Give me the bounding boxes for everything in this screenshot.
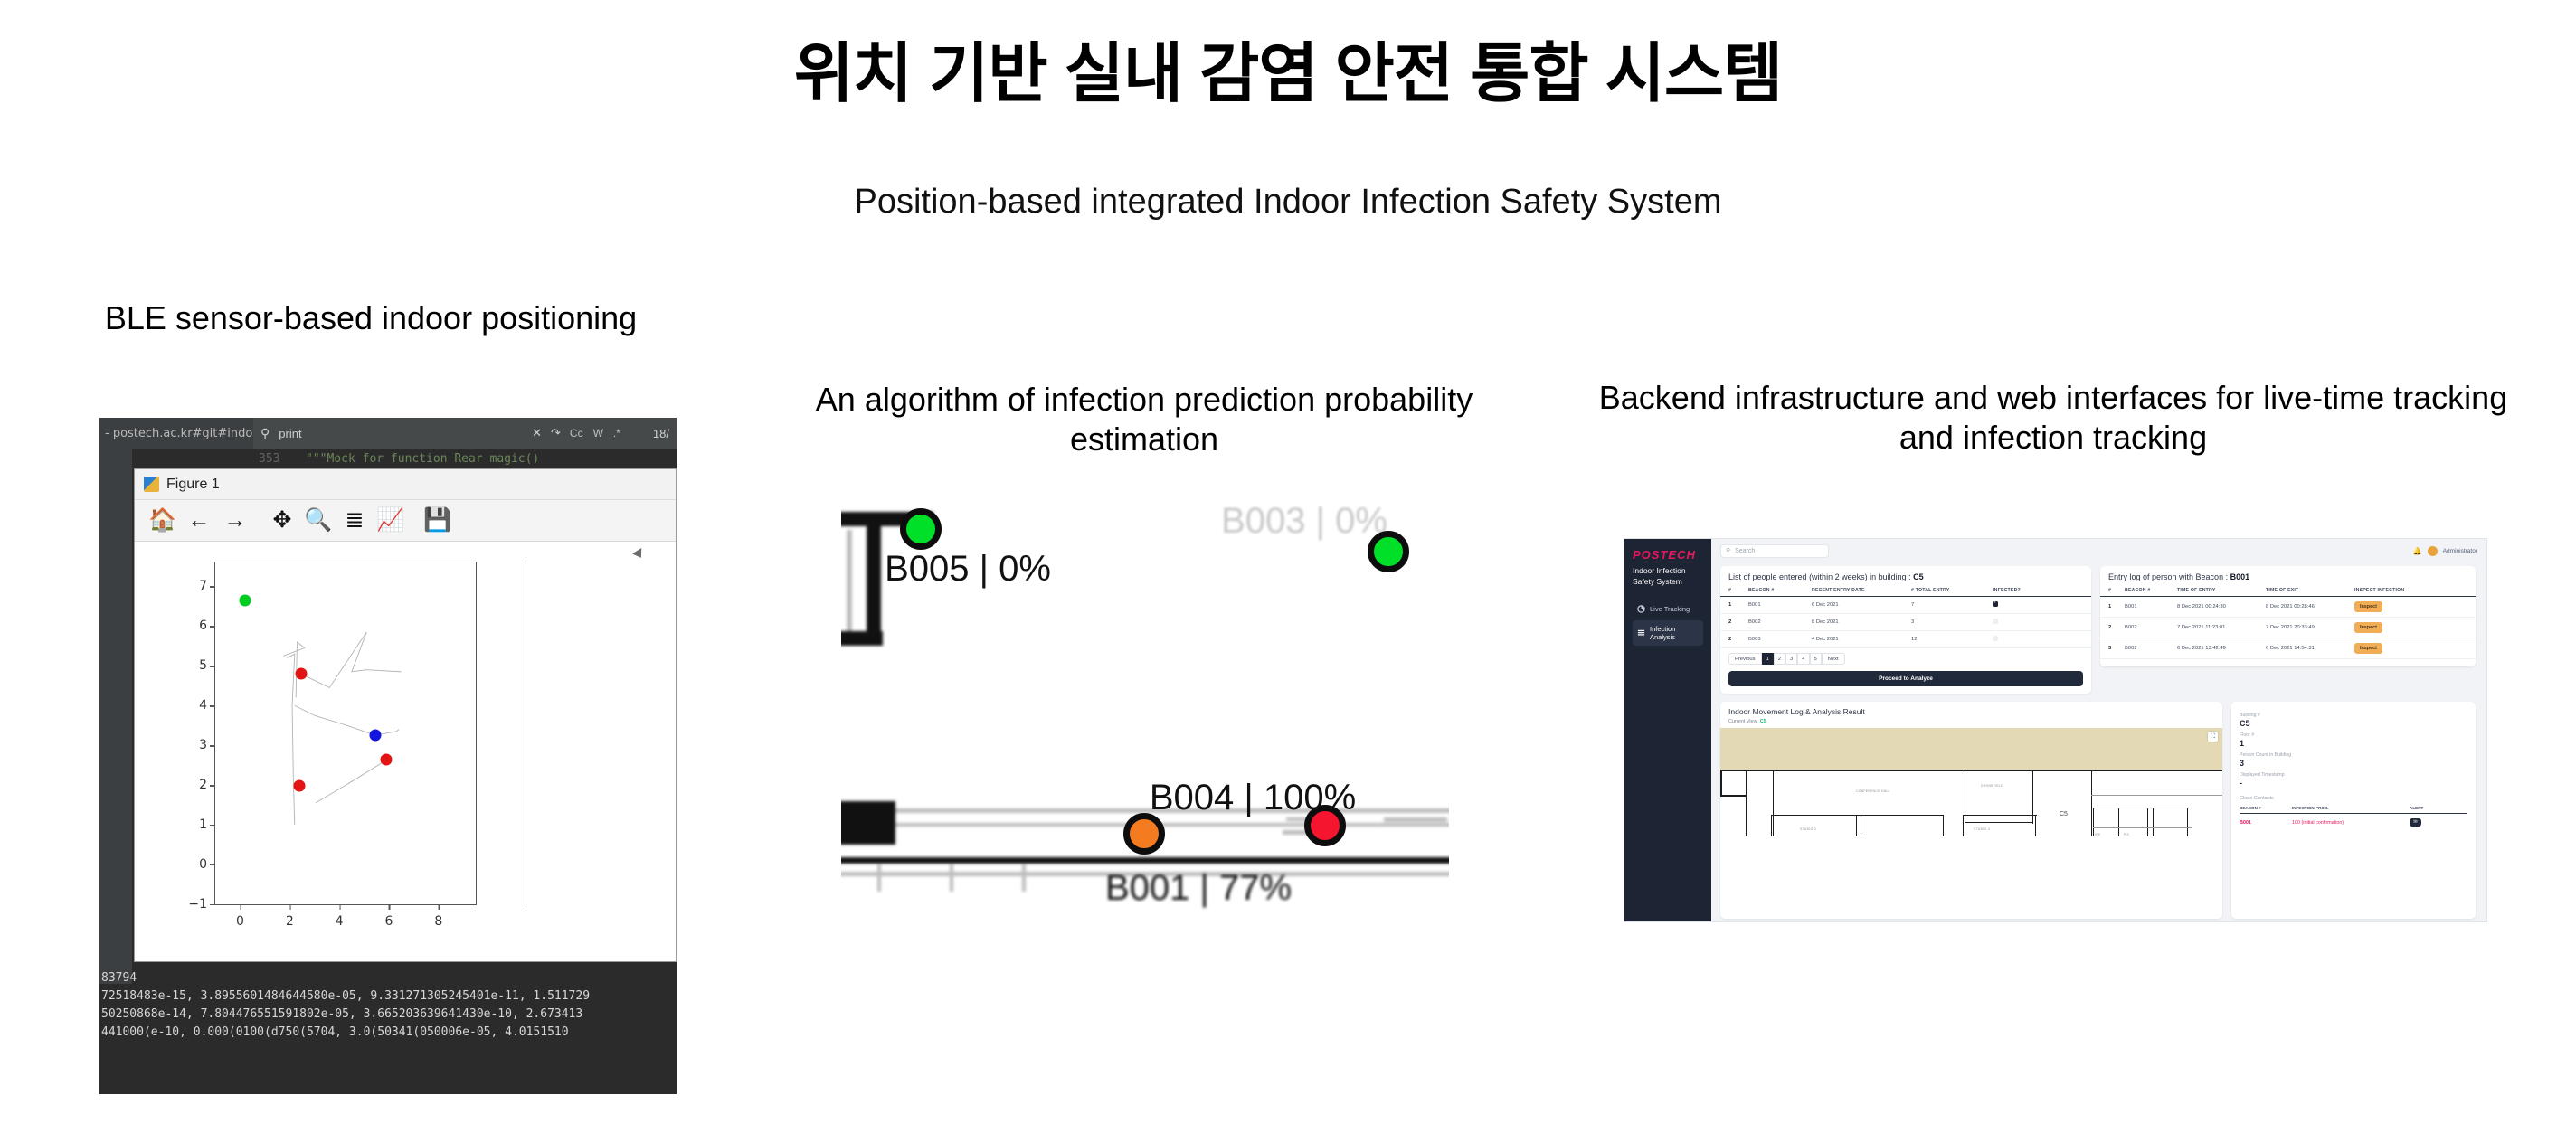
cell-action[interactable]: Inspect [2346, 618, 2476, 638]
pagination-previous[interactable]: Previous [1728, 653, 1762, 665]
wall-tick [1022, 864, 1026, 892]
search-icon: ⚲ [1726, 547, 1730, 554]
cell-date: 4 Dec 2021 [1804, 631, 1903, 648]
pagination-page-5[interactable]: 5 [1810, 653, 1822, 665]
edit-axis-icon[interactable]: 📈 [374, 504, 408, 538]
wall-segment-light [847, 530, 852, 640]
table-header-row: BEACON # INFECTION PROB. ALERT [2240, 804, 2467, 814]
app-name: Indoor Infection Safety System [1633, 565, 1703, 588]
x-axis-tick: 2 [286, 914, 294, 929]
x-axis-tick: 6 [385, 914, 393, 929]
cell-index: 1 [1720, 597, 1740, 614]
pagination[interactable]: Previous 1 2 3 4 5 Next [1720, 648, 2091, 671]
cell-entry-time: 6 Dec 2021 13:42:49 [2169, 638, 2258, 659]
floorplan-wall [1720, 770, 1722, 797]
current-view-label: Current View [1728, 719, 1757, 724]
beacon-label-partial: B003 | 0% [1221, 506, 1387, 542]
close-icon[interactable]: ✕ [532, 426, 542, 440]
cell-exit-time: 6 Dec 2021 14:54:31 [2258, 638, 2346, 659]
ide-match-count: 18/ [653, 427, 669, 440]
mouse-cursor-icon [632, 548, 646, 561]
ide-scrap-line: 83794 [101, 971, 156, 985]
table-row[interactable]: B001 100 (initial confirmation) ✉ [2240, 814, 2467, 831]
floorplan-room [1856, 815, 1857, 836]
pagination-next[interactable]: Next [1822, 653, 1845, 665]
col-infection-prob: INFECTION PROB. [2292, 804, 2410, 814]
entry-log-table: # BEACON # TIME OF ENTRY TIME OF EXIT IN… [2100, 586, 2476, 659]
caption-left-panel: BLE sensor-based indoor positioning [95, 298, 647, 338]
infected-checkbox-checked[interactable] [1993, 601, 1998, 607]
floorplan-core [2093, 827, 2192, 828]
caption-right-panel: Backend infrastructure and web interface… [1592, 378, 2514, 458]
scatter-point-anchor [294, 780, 306, 792]
alert-message-icon[interactable]: ✉ [2410, 818, 2421, 827]
entry-log-title-prefix: Entry log of person with Beacon : [2108, 572, 2230, 581]
floorplan-room [1943, 815, 1944, 836]
cell-entry-time: 8 Dec 2021 00:24:30 [2169, 597, 2258, 618]
movement-log-card: Indoor Movement Log & Analysis Result Cu… [1720, 702, 2222, 919]
current-view: Current View C5 [1728, 719, 2214, 724]
figure-canvas[interactable]: −10123456702468 [135, 542, 676, 961]
floorplan-label-dronefield: DRONEFIELD [1981, 784, 2003, 788]
cell-index: 2 [1720, 614, 1740, 631]
scatter-plot-axes: −10123456702468 [214, 562, 477, 905]
sidebar-item-label: Infection Analysis [1650, 625, 1699, 641]
x-axis-tick: 0 [236, 914, 244, 929]
page-title: 위치 기반 실내 감염 안전 통합 시스템 [0, 40, 2576, 110]
cell-date: 8 Dec 2021 [1804, 614, 1903, 631]
info-value-person-count: 3 [2240, 759, 2467, 768]
table-row[interactable]: 2 B003 4 Dec 2021 12 [1720, 631, 2091, 648]
current-view-value: C5 [1760, 719, 1766, 724]
live-tracking-icon [1637, 605, 1645, 613]
cell-infected[interactable] [1984, 597, 2091, 614]
sidebar-item-live-tracking[interactable]: Live Tracking [1633, 600, 1703, 618]
scatter-point-estimated-position [369, 730, 381, 742]
cell-exit-time: 7 Dec 2021 20:33:49 [2258, 618, 2346, 638]
figure-toolbar[interactable]: 🏠 ← → ✥ 🔍 ≣ 📈 💾 [135, 500, 676, 542]
matplotlib-logo-icon [144, 477, 159, 492]
building-info-card: Building # C5 Floor # 1 Person Count in … [2231, 702, 2476, 919]
wall-segment [841, 857, 1449, 864]
corridor-line [895, 823, 1449, 827]
regex-toggle-icon[interactable]: ↷ [551, 426, 561, 440]
cell-index: 1 [2100, 597, 2117, 618]
table-row[interactable]: 1 B001 6 Dec 2021 7 [1720, 597, 2091, 614]
cell-date: 6 Dec 2021 [1804, 597, 1903, 614]
cell-beacon: B002 [2117, 638, 2169, 659]
cell-beacon: B001 [1740, 597, 1804, 614]
info-value-timestamp: - [2240, 779, 2467, 788]
regex-option[interactable]: .* [613, 427, 620, 439]
ide-line-number: 353 [253, 452, 306, 466]
proceed-to-analyze-button[interactable]: Proceed to Analyze [1728, 671, 2083, 686]
inspect-button[interactable]: Inspect [2354, 601, 2382, 612]
floorplan-core [2187, 808, 2188, 836]
table-header-row: # BEACON # RECENT ENTRY DATE # TOTAL ENT… [1720, 586, 2091, 597]
sidebar-item-infection-analysis[interactable]: Infection Analysis [1633, 620, 1703, 646]
floorplan-label-ips: IPS [2095, 833, 2100, 836]
col-index: # [2100, 586, 2117, 597]
avatar[interactable] [2428, 546, 2438, 556]
console-line: 72518483e-15, 3.8955601484644580e-05, 9.… [101, 987, 677, 1006]
floorplan-wall [1773, 770, 1774, 836]
col-time-of-exit: TIME OF EXIT [2258, 586, 2346, 597]
ide-code-line: 353 """Mock for function Rear magic() [253, 449, 677, 468]
figure-window-title: Figure 1 [166, 477, 220, 493]
table-header-row: # BEACON # TIME OF ENTRY TIME OF EXIT IN… [2100, 586, 2476, 597]
search-input[interactable]: ⚲ Search [1720, 544, 1829, 558]
cell-index: 2 [2100, 618, 2117, 638]
postech-logo: POSTECH [1633, 548, 1703, 562]
cell-total: 12 [1903, 631, 1984, 648]
floorplan-core [2118, 808, 2119, 836]
movement-log-title: Indoor Movement Log & Analysis Result [1728, 707, 2214, 716]
floorplan-room [1861, 815, 1861, 836]
notification-bell-icon[interactable]: 🔔 [2413, 547, 2422, 555]
cell-exit-time: 8 Dec 2021 00:28:46 [2258, 597, 2346, 618]
pagination-page-1[interactable]: 1 [1762, 653, 1774, 665]
col-beacon: BEACON # [1740, 586, 1804, 597]
y-axis-tick: 0 [199, 857, 207, 872]
wall-tick [1384, 817, 1447, 822]
sidebar-item-label: Live Tracking [1650, 605, 1690, 613]
search-icon: ⚲ [260, 426, 270, 441]
ide-code-text: """Mock for function Rear magic() [306, 452, 539, 466]
col-infected: INFECTED? [1984, 586, 2091, 597]
topbar-user-area: 🔔 Administrator [2413, 546, 2477, 556]
pagination-page-4[interactable]: 4 [1797, 653, 1809, 665]
cell-index: 2 [1720, 631, 1740, 648]
movement-log-header: Indoor Movement Log & Analysis Result Cu… [1720, 702, 2222, 728]
right-screenshot-web-dashboard: POSTECH Indoor Infection Safety System L… [1624, 538, 2487, 922]
scatter-point-anchor [295, 668, 307, 680]
people-entered-title: List of people entered (within 2 weeks) … [1720, 566, 2091, 586]
back-arrow-icon[interactable]: ← [182, 504, 216, 538]
ide-project-path: - postech.ac.kr#git#indoo [105, 427, 260, 440]
zoom-icon[interactable]: 🔍 [301, 504, 336, 538]
cell-total: 3 [1903, 614, 1984, 631]
scatter-plot-axes-secondary [526, 562, 677, 905]
search-placeholder: Search [1735, 548, 1755, 554]
col-recent-entry-date: RECENT ENTRY DATE [1804, 586, 1903, 597]
cell-infected[interactable] [1984, 614, 2091, 631]
page-subtitle: Position-based integrated Indoor Infecti… [0, 183, 2576, 222]
infected-checkbox[interactable] [1993, 636, 1998, 641]
beacon-marker-b003[interactable] [1368, 531, 1409, 572]
floorplan-room [1963, 815, 1964, 836]
people-entered-card: List of people entered (within 2 weeks) … [1720, 566, 2091, 694]
x-axis-tick: 4 [336, 914, 344, 929]
floorplan-room [1963, 815, 2037, 816]
entry-log-beacon: B001 [2230, 572, 2250, 581]
forward-arrow-icon[interactable]: → [218, 504, 252, 538]
cell-index: 3 [2100, 638, 2117, 659]
save-icon[interactable]: 💾 [421, 504, 455, 538]
whole-words-option[interactable]: W [593, 427, 603, 439]
cell-total: 7 [1903, 597, 1984, 614]
cell-beacon: B002 [1740, 614, 1804, 631]
table-row[interactable]: 2 B002 8 Dec 2021 3 [1720, 614, 2091, 631]
y-axis-tick: 3 [199, 738, 207, 752]
y-axis-tick: 7 [199, 579, 207, 593]
info-key-timestamp: Displayed Timestamp [2240, 772, 2467, 778]
floorplan-core [2153, 808, 2189, 808]
inspect-button[interactable]: Inspect [2354, 622, 2382, 633]
info-value-floor: 1 [2240, 739, 2467, 748]
people-entered-title-prefix: List of people entered (within 2 weeks) … [1728, 572, 1913, 581]
figure-titlebar[interactable]: Figure 1 [135, 469, 676, 500]
caption-middle-panel: An algorithm of infection prediction pro… [773, 380, 1515, 459]
floorplan-wall [1720, 795, 1747, 797]
table-row[interactable]: 3 B002 6 Dec 2021 13:42:49 6 Dec 2021 14… [2100, 638, 2476, 659]
inspect-button[interactable]: Inspect [2354, 643, 2382, 654]
ide-search-bar[interactable]: ⚲ print ✕ ↷ Cc W .* 18/ [253, 418, 677, 449]
wall-tick [950, 864, 953, 892]
col-beacon: BEACON # [2117, 586, 2169, 597]
dashboard-main: ⚲ Search 🔔 Administrator List of people … [1711, 539, 2486, 921]
y-axis-tick: 4 [199, 698, 207, 713]
floorplan-outdoor-area [1720, 728, 2222, 770]
y-axis-tick: 1 [199, 817, 207, 832]
floorplan-wall [1746, 770, 1747, 836]
col-time-of-entry: TIME OF ENTRY [2169, 586, 2258, 597]
ide-search-input[interactable]: print [279, 427, 523, 440]
cell-action[interactable]: Inspect [2346, 638, 2476, 659]
wall-segment [867, 512, 881, 644]
beacon-label-b005: B005 | 0% [885, 549, 1051, 590]
floorplan-core [2153, 808, 2154, 836]
user-label: Administrator [2443, 548, 2477, 554]
info-key-person-count: Person Count in Building [2240, 752, 2467, 758]
pan-icon[interactable]: ✥ [265, 504, 299, 538]
entry-log-title: Entry log of person with Beacon : B001 [2100, 566, 2476, 586]
floorplan-room [2035, 815, 2036, 836]
floorplan-label-studio-2: STUDIO 2 [1800, 827, 1816, 831]
col-total-entry: # TOTAL ENTRY [1903, 586, 1984, 597]
table-row[interactable]: 1 B001 8 Dec 2021 00:24:30 8 Dec 2021 00… [2100, 597, 2476, 618]
table-row[interactable]: 2 B002 7 Dec 2021 11:23:01 7 Dec 2021 20… [2100, 618, 2476, 638]
pagination-page-2[interactable]: 2 [1774, 653, 1785, 665]
pagination-page-3[interactable]: 3 [1785, 653, 1797, 665]
floorplan-label-conference-hall: CONFERENCE HALL [1856, 789, 1890, 793]
cell-beacon: B001 [2240, 814, 2292, 831]
y-axis-tick: 6 [199, 619, 207, 633]
middle-screenshot-beacon-map: B003 | 0% B005 | 0% B001 | 77% B004 | 10… [841, 506, 1449, 1026]
matplotlib-figure-window[interactable]: Figure 1 🏠 ← → ✥ 🔍 ≣ 📈 💾 −10123456702468 [134, 468, 677, 962]
wall-segment [841, 801, 895, 845]
col-beacon: BEACON # [2240, 804, 2292, 814]
infection-analysis-icon [1637, 628, 1645, 637]
cell-alert[interactable]: ✉ [2410, 814, 2467, 831]
home-icon[interactable]: 🏠 [146, 504, 180, 538]
beacon-label-b001: B001 | 77% [1105, 868, 1292, 909]
cell-beacon: B002 [2117, 618, 2169, 638]
beacon-label-b004: B004 | 100% [1150, 778, 1356, 818]
console-line: 50250868e-14, 7.804476551591802e-05, 3.6… [101, 1006, 677, 1024]
floorplan-core [2147, 808, 2148, 836]
match-case-option[interactable]: Cc [570, 427, 583, 439]
col-alert: ALERT [2410, 804, 2467, 814]
close-contacts-title: Close Contacts [2240, 796, 2467, 801]
cell-entry-time: 7 Dec 2021 11:23:01 [2169, 618, 2258, 638]
floorplan-wall [1965, 822, 2033, 823]
console-line: 441000(e-10, 0.000(0100(d750(5704, 3.0(5… [101, 1024, 677, 1042]
cell-infected[interactable] [1984, 631, 2091, 648]
floorplan-label-studio-4: STUDIO 4 [1974, 827, 1990, 831]
cell-beacon: B001 [2117, 597, 2169, 618]
entry-log-card: Entry log of person with Beacon : B001 #… [2100, 566, 2476, 666]
floorplan-wall-light [2091, 795, 2222, 796]
ide-console-output: 72518483e-15, 3.8955601484644580e-05, 9.… [99, 984, 677, 1094]
configure-subplots-icon[interactable]: ≣ [337, 504, 372, 538]
info-value-building: C5 [2240, 719, 2467, 728]
y-axis-tick: 2 [199, 778, 207, 792]
infected-checkbox[interactable] [1993, 619, 1998, 624]
fullscreen-icon[interactable]: ⛶ [2208, 732, 2218, 742]
floorplan-core [2093, 808, 2149, 808]
beacon-marker-b001[interactable] [1123, 813, 1165, 855]
dashboard-sidebar: POSTECH Indoor Infection Safety System L… [1624, 539, 1711, 922]
trajectory-paths [215, 562, 476, 904]
info-key-building: Building # [2240, 713, 2467, 718]
ide-gutter [99, 449, 132, 984]
y-axis-tick: −1 [188, 897, 207, 912]
people-entered-table: # BEACON # RECENT ENTRY DATE # TOTAL ENT… [1720, 586, 2091, 648]
wall-segment [841, 631, 883, 646]
scatter-point-anchor [381, 754, 393, 766]
floorplan-room [1861, 815, 1944, 816]
beacon-marker-b005[interactable] [900, 508, 942, 550]
left-screenshot-ide-with-figure: - postech.ac.kr#git#indoo ⚲ print ✕ ↷ Cc… [99, 418, 677, 1094]
col-inspect-infection: INSPECT INFECTION [2346, 586, 2476, 597]
x-axis-tick: 8 [434, 914, 442, 929]
cell-infection-prob: 100 (initial confirmation) [2292, 814, 2410, 831]
floorplan-building-label: C5 [2060, 811, 2068, 817]
cell-beacon: B003 [1740, 631, 1804, 648]
col-index: # [1720, 586, 1740, 597]
close-contacts-table: BEACON # INFECTION PROB. ALERT B001 100 … [2240, 804, 2467, 830]
y-axis-tick: 5 [199, 658, 207, 673]
info-key-floor: Floor # [2240, 732, 2467, 738]
wall-tick [877, 864, 881, 892]
cell-action[interactable]: Inspect [2346, 597, 2476, 618]
floorplan-canvas[interactable]: ⛶ [1720, 728, 2222, 836]
scatter-point-beacon [239, 594, 251, 606]
floorplan-label-ps: P.S [2124, 833, 2129, 836]
floorplan-room [1771, 815, 1772, 836]
floorplan-wall [1720, 770, 2222, 771]
building-code: C5 [1913, 572, 1924, 581]
dashboard-topbar: ⚲ Search 🔔 Administrator [1711, 539, 2486, 562]
